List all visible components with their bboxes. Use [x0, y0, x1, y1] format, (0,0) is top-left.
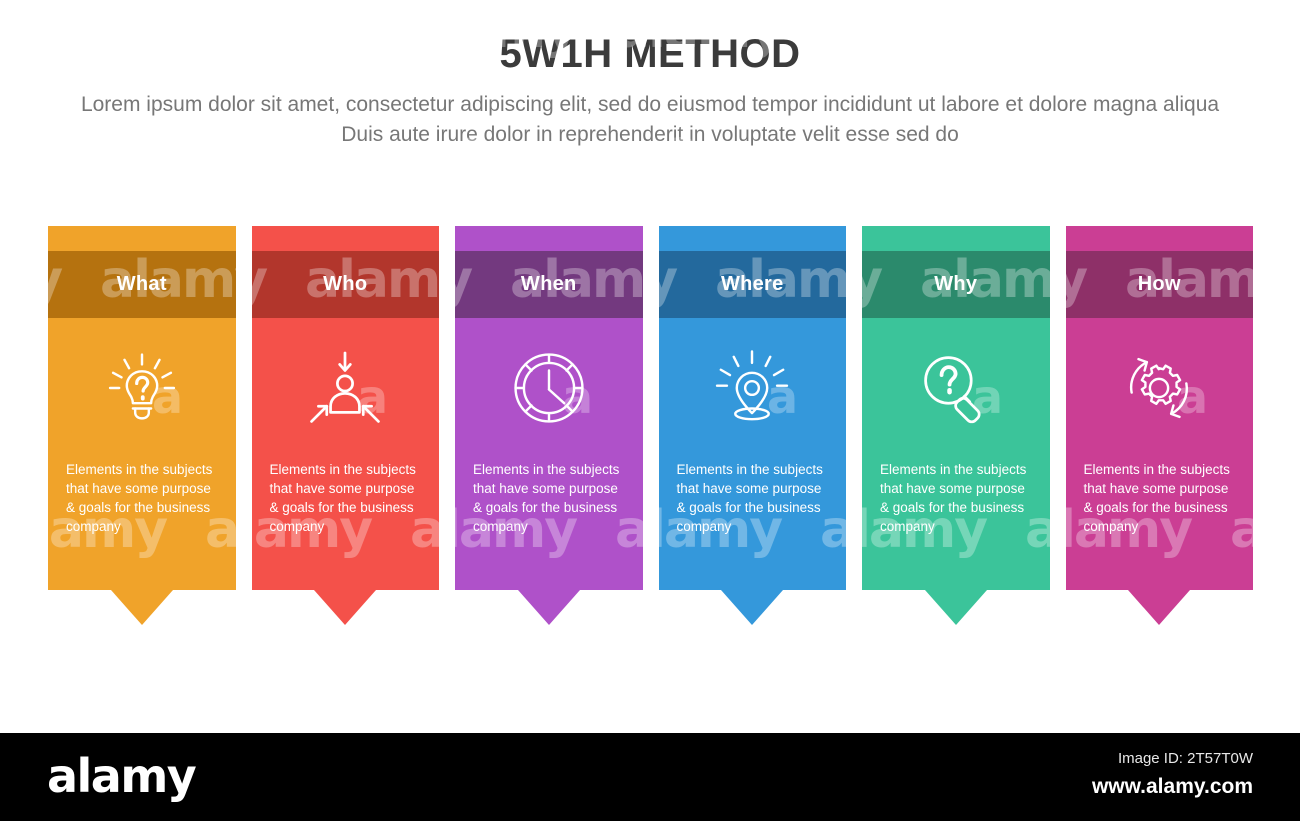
- card-title: What: [117, 273, 167, 296]
- card-when[interactable]: When Elements in the su: [455, 226, 643, 625]
- image-id-label: Image ID: 2T57T0W: [953, 750, 1253, 767]
- card-body: Where Elements in the subjects that have…: [659, 226, 847, 590]
- card-header-band: What: [48, 251, 236, 318]
- alamy-url[interactable]: www.alamy.com: [953, 775, 1253, 799]
- card-title: How: [1138, 273, 1181, 296]
- gear-cycle-icon: [1121, 350, 1197, 426]
- card-description: Elements in the subjects that have some …: [1066, 460, 1254, 537]
- location-pin-icon: [714, 350, 790, 426]
- watermark-text: a: [257, 620, 288, 674]
- alamy-logo: alamy: [47, 749, 195, 803]
- card-what[interactable]: What Elements in the su: [48, 226, 236, 625]
- clock-icon: [511, 350, 587, 426]
- card-header-band: How: [1066, 251, 1254, 318]
- page-title: 5W1H METHOD: [0, 30, 1300, 78]
- lightbulb-question-icon: [104, 350, 180, 426]
- card-why[interactable]: Why Elements in the subjects that have s…: [862, 226, 1050, 625]
- watermark-text: a: [52, 620, 83, 674]
- card-body: What Elements in the su: [48, 226, 236, 590]
- card-description: Elements in the subjects that have some …: [252, 460, 440, 537]
- watermark-text: a: [667, 620, 698, 674]
- card-how[interactable]: How Elements in the subjects that have s…: [1066, 226, 1254, 625]
- card-header-band: Why: [862, 251, 1050, 318]
- card-pointer: [518, 590, 580, 625]
- card-title: Where: [721, 273, 784, 296]
- card-description: Elements in the subjects that have some …: [48, 460, 236, 537]
- card-header-band: Where: [659, 251, 847, 318]
- card-where[interactable]: Where Elements in the subjects that have…: [659, 226, 847, 625]
- card-pointer: [111, 590, 173, 625]
- magnifier-question-icon: [918, 350, 994, 426]
- card-who[interactable]: Who Elements in the subjects that have s…: [252, 226, 440, 625]
- card-description: Elements in the subjects that have some …: [659, 460, 847, 537]
- person-arrows-icon: [307, 350, 383, 426]
- card-title: When: [521, 273, 577, 296]
- card-title: Why: [934, 273, 977, 296]
- card-pointer: [925, 590, 987, 625]
- card-row: What Elements in the su: [48, 226, 1253, 625]
- card-pointer: [314, 590, 376, 625]
- card-description: Elements in the subjects that have some …: [455, 460, 643, 537]
- page-header: 5W1H METHOD Lorem ipsum dolor sit amet, …: [0, 0, 1300, 150]
- card-pointer: [721, 590, 783, 625]
- card-body: When Elements in the su: [455, 226, 643, 590]
- card-header-band: Who: [252, 251, 440, 318]
- watermark-text: a: [462, 620, 493, 674]
- card-body: Who Elements in the subjects that have s…: [252, 226, 440, 590]
- card-description: Elements in the subjects that have some …: [862, 460, 1050, 537]
- card-title: Who: [323, 273, 367, 296]
- card-pointer: [1128, 590, 1190, 625]
- page-subtitle: Lorem ipsum dolor sit amet, consectetur …: [65, 90, 1235, 150]
- card-header-band: When: [455, 251, 643, 318]
- card-body: How Elements in the subjects that have s…: [1066, 226, 1254, 590]
- card-body: Why Elements in the subjects that have s…: [862, 226, 1050, 590]
- alamy-footer-bar: alamy Image ID: 2T57T0W www.alamy.com: [0, 733, 1300, 821]
- watermark-text: a: [872, 620, 903, 674]
- watermark-text: a: [1077, 620, 1108, 674]
- watermark-text: a: [1282, 620, 1300, 674]
